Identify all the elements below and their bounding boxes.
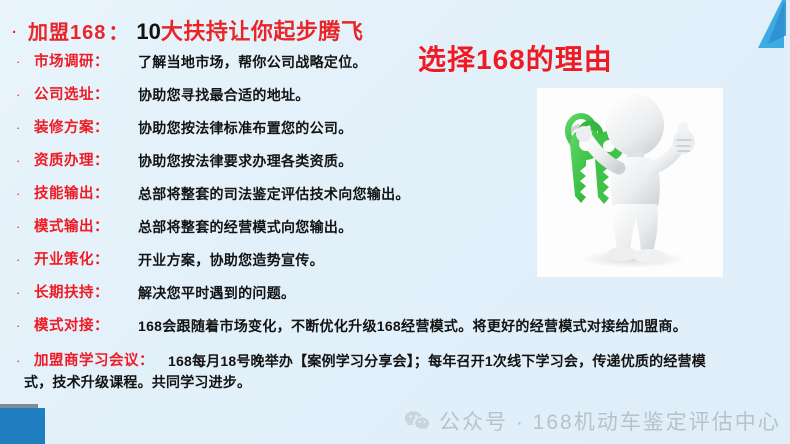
- wechat-icon: [404, 410, 430, 432]
- headline-bullet-icon: ·: [12, 25, 17, 40]
- list-item-line-1: 168每月18号晚举办【案例学习分享会】；每年召开1次线下学习会，传递优质的经营…: [168, 353, 706, 369]
- headline-rest: 大扶持让你起步腾飞: [161, 14, 364, 46]
- list-item-text: 协助您寻找最合适的地址。: [138, 85, 310, 105]
- list-item: · 开业策化： 开业方案，协助您造势宣传。: [12, 250, 790, 283]
- list-item: · 装修方案： 协助您按法律标准布置您的公司。: [12, 118, 790, 151]
- watermark: 公众号 · 168机动车鉴定评估中心: [404, 406, 781, 436]
- bullet-icon: ·: [12, 250, 34, 270]
- list-item: · 长期扶持： 解决您平时遇到的问题。: [12, 283, 790, 316]
- list-item-label: 加盟商学习会议：: [34, 351, 168, 372]
- list-item-label: 装修方案：: [34, 118, 138, 138]
- bullet-icon: ·: [12, 118, 34, 138]
- headline-label: 加盟168: [28, 16, 106, 45]
- bullet-icon: ·: [12, 184, 34, 204]
- list-item-text: 总部将整套的经营模式向您输出。: [138, 217, 353, 237]
- bullet-icon: ·: [12, 85, 34, 105]
- list-item-label: 市场调研：: [34, 52, 138, 72]
- list-item-label: 模式输出：: [34, 217, 138, 237]
- list-item-label: 开业策化：: [34, 250, 138, 270]
- list-item-label: 公司选址：: [34, 85, 138, 105]
- bullet-icon: ·: [12, 316, 34, 336]
- bullet-icon: ·: [12, 52, 34, 72]
- watermark-text: 公众号 · 168机动车鉴定评估中心: [439, 406, 781, 436]
- list-item-meeting: · 加盟商学习会议： 168每月18号晚举办【案例学习分享会】；每年召开1次线下…: [12, 351, 790, 393]
- slide-canvas: · 加盟168 ： 10 大扶持让你起步腾飞 选择168的理由: [0, 0, 790, 444]
- list-item-label: 资质办理：: [34, 151, 138, 171]
- list-item-text: 了解当地市场，帮你公司战略定位。: [138, 52, 367, 72]
- list-item: · 公司选址： 协助您寻找最合适的地址。: [12, 85, 790, 118]
- bullet-icon: ·: [12, 351, 34, 371]
- list-item-text: 协助您按法律要求办理各类资质。: [138, 151, 353, 171]
- support-items-list: · 市场调研： 了解当地市场，帮你公司战略定位。 · 公司选址： 协助您寻找最合…: [12, 52, 790, 393]
- bottom-left-blue-block-decoration: [0, 408, 45, 444]
- list-item-text: 总部将整套的司法鉴定评估技术向您输出。: [138, 184, 410, 204]
- list-item-text: 168会跟随着市场变化，不断优化升级168经营模式。将更好的经营模式对接给加盟商…: [138, 316, 687, 336]
- list-item: · 模式输出： 总部将整套的经营模式向您输出。: [12, 217, 790, 250]
- list-item: · 资质办理： 协助您按法律要求办理各类资质。: [12, 151, 790, 184]
- headline-colon: ：: [106, 16, 136, 45]
- bullet-icon: ·: [12, 151, 34, 171]
- headline: · 加盟168 ： 10 大扶持让你起步腾飞: [12, 14, 363, 46]
- list-item: · 模式对接： 168会跟随着市场变化，不断优化升级168经营模式。将更好的经营…: [12, 316, 790, 349]
- list-item-text: 开业方案，协助您造势宣传。: [138, 250, 324, 270]
- list-item: · 技能输出： 总部将整套的司法鉴定评估技术向您输出。: [12, 184, 790, 217]
- list-item-label: 长期扶持：: [34, 283, 138, 303]
- list-item-text: 解决您平时遇到的问题。: [138, 283, 295, 303]
- list-item-label: 技能输出：: [34, 184, 138, 204]
- list-item-line-2: 式，技术升级课程。共同学习进步。: [24, 372, 790, 393]
- bullet-icon: ·: [12, 283, 34, 303]
- list-item-paragraph: 168每月18号晚举办【案例学习分享会】；每年召开1次线下学习会，传递优质的经营…: [168, 351, 790, 393]
- list-item-label: 模式对接：: [34, 316, 138, 336]
- list-item: · 市场调研： 了解当地市场，帮你公司战略定位。: [12, 52, 790, 85]
- list-item-text: 协助您按法律标准布置您的公司。: [138, 118, 353, 138]
- headline-number: 10: [136, 19, 160, 45]
- bullet-icon: ·: [12, 217, 34, 237]
